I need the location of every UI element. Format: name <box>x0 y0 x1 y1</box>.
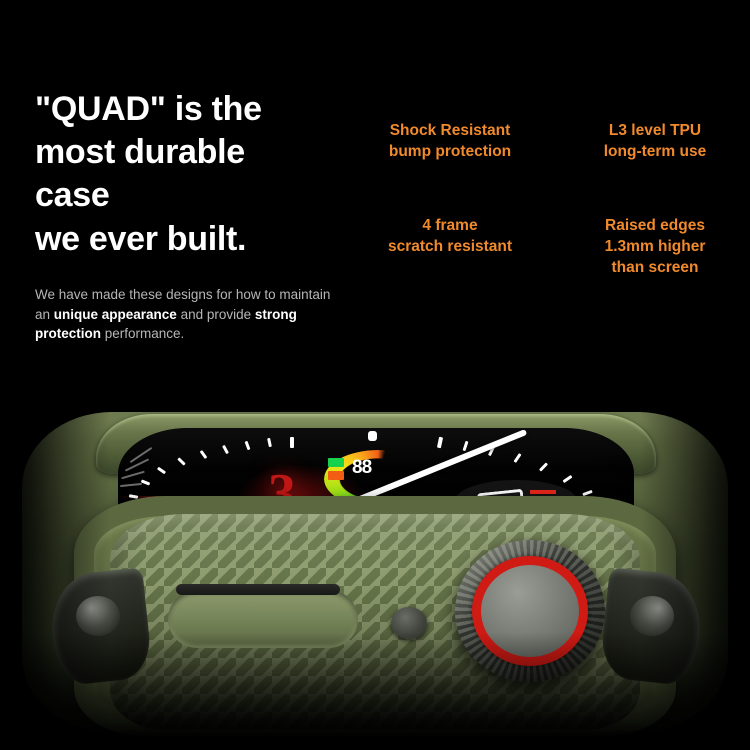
description-text: We have made these designs for how to ma… <box>35 285 335 344</box>
product-promo-image: "QUAD" is the most durable case we ever … <box>0 0 750 750</box>
gauge-digits: 88 <box>352 459 371 477</box>
tick-mark-dim <box>130 447 153 463</box>
feature-raised-edges: Raised edges 1.3mm higher than screen <box>575 216 735 279</box>
side-button-cutout[interactable] <box>168 590 358 648</box>
tick-mark <box>157 467 166 475</box>
headline-line-3: case <box>35 174 345 217</box>
tick-mark <box>222 445 229 454</box>
tick-mark <box>177 457 186 465</box>
tick-mark <box>290 437 294 448</box>
tick-mark <box>267 438 272 447</box>
headline-line-2: most durable <box>35 131 345 174</box>
headline-line-4: we ever built. <box>35 218 345 261</box>
feature-shock-resistant: Shock Resistant bump protection <box>370 121 530 163</box>
tick-mark-dim <box>121 471 145 480</box>
gauge-chip-orange <box>328 471 344 480</box>
gauge-chip-green <box>328 458 344 467</box>
crown-face <box>481 565 579 657</box>
page-title: "QUAD" is the most durable case we ever … <box>35 88 345 261</box>
tick-mark <box>563 475 573 483</box>
tick-mark <box>141 479 150 485</box>
feature-0-line-1: Shock Resistant <box>370 121 530 142</box>
tick-mark <box>488 446 495 456</box>
tick-mark <box>513 453 521 463</box>
description-bold-1: unique appearance <box>54 307 177 322</box>
feature-4-frame: 4 frame scratch resistant <box>370 216 530 258</box>
feature-1-line-1: L3 level TPU <box>575 121 735 142</box>
description-part-3: performance. <box>101 326 184 341</box>
tick-mark <box>245 441 251 450</box>
left-edge-vignette <box>0 392 110 750</box>
tick-mark <box>200 450 208 459</box>
tick-mark-dim <box>120 483 142 487</box>
right-edge-vignette <box>640 392 750 750</box>
feature-1-line-2: long-term use <box>575 142 735 163</box>
side-button-bar[interactable] <box>176 584 340 595</box>
description-part-2: and provide <box>177 307 255 322</box>
small-round-button[interactable] <box>391 607 427 639</box>
tick-mark <box>437 437 443 449</box>
feature-3-line-2: 1.3mm higher <box>575 237 735 258</box>
tick-mark <box>539 462 548 471</box>
digital-crown[interactable] <box>455 540 605 682</box>
feature-3-line-1: Raised edges <box>575 216 735 237</box>
tick-mark-top-marker <box>368 431 377 441</box>
gauge-complication: 88 <box>324 450 420 496</box>
feature-2-line-1: 4 frame <box>370 216 530 237</box>
feature-0-line-2: bump protection <box>370 142 530 163</box>
feature-2-line-2: scratch resistant <box>370 237 530 258</box>
tick-mark <box>463 441 469 451</box>
tick-mark-dim <box>125 458 149 471</box>
feature-3-line-3: than screen <box>575 258 735 279</box>
crown-red-ring <box>472 556 588 666</box>
feature-l3-tpu: L3 level TPU long-term use <box>575 121 735 163</box>
headline-line-1: "QUAD" is the <box>35 88 345 131</box>
minute-hand <box>349 429 527 506</box>
